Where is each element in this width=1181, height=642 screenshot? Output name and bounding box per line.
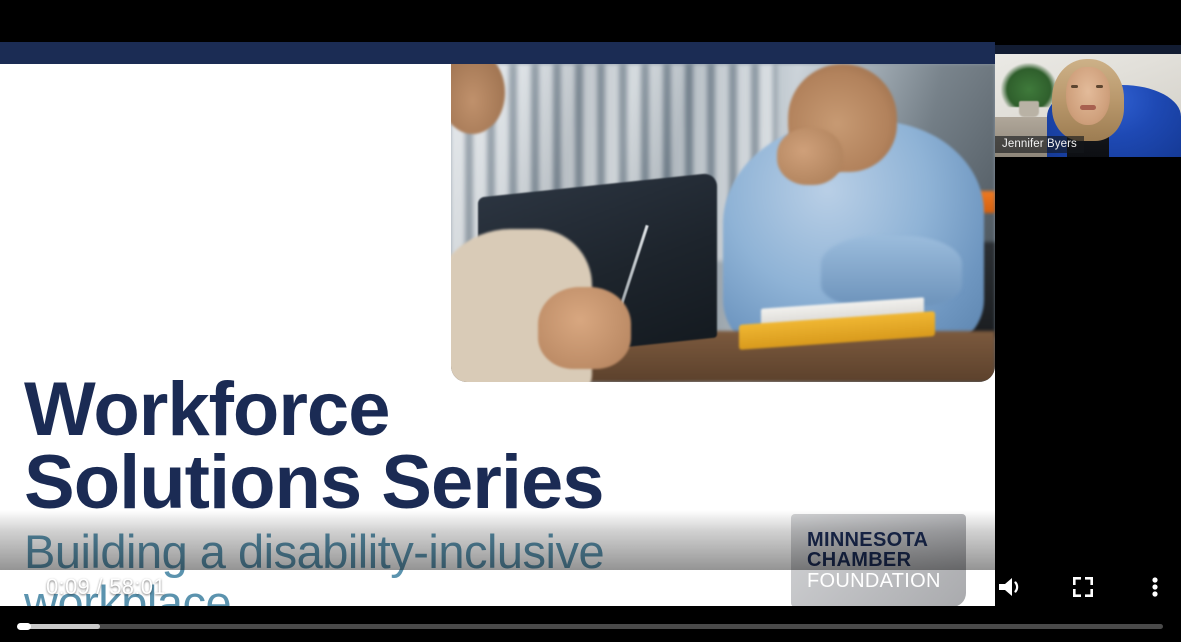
participant-name-label: Jennifer Byers: [995, 136, 1084, 153]
webcam-person-mouth: [1080, 105, 1096, 110]
progress-scrubber-handle[interactable]: [17, 623, 31, 630]
fullscreen-button[interactable]: [1057, 568, 1109, 606]
slide-header-bar: [0, 42, 995, 64]
photo-person-arm: [821, 236, 962, 306]
volume-button[interactable]: [985, 568, 1037, 606]
time-display: 0:09 / 58:01: [46, 574, 166, 600]
webcam-person-face: [1066, 67, 1110, 125]
progress-bar[interactable]: [18, 624, 1163, 630]
fullscreen-icon: [1071, 575, 1095, 599]
player-controls[interactable]: 0:09 / 58:01: [0, 568, 1181, 642]
slide-title: Workforce Solutions Series: [24, 374, 744, 520]
webcam-top-band: [995, 45, 1181, 54]
webcam-plant: [1001, 63, 1057, 107]
photo-person-hand: [777, 128, 842, 185]
play-icon: [12, 576, 32, 598]
slide-title-line2: Solutions Series: [24, 447, 744, 520]
slide-photo: [451, 64, 995, 382]
more-vertical-icon: [1152, 575, 1158, 599]
webcam-person-eye-right: [1096, 85, 1103, 88]
presentation-slide: Workforce Solutions Series Building a di…: [0, 64, 995, 606]
video-player[interactable]: Workforce Solutions Series Building a di…: [0, 0, 1181, 642]
webcam-overlay[interactable]: Jennifer Byers: [995, 45, 1181, 157]
more-options-button[interactable]: [1129, 568, 1181, 606]
webcam-person-eye-left: [1071, 85, 1078, 88]
controls-row: 0:09 / 58:01: [0, 568, 1181, 606]
play-button[interactable]: [0, 568, 44, 606]
progress-track[interactable]: [18, 624, 1163, 629]
photo-foreground-hand: [538, 287, 630, 370]
logo-line-minnesota: MINNESOTA: [807, 530, 966, 550]
volume-high-icon: [997, 575, 1025, 599]
video-viewport[interactable]: Workforce Solutions Series Building a di…: [0, 42, 995, 606]
